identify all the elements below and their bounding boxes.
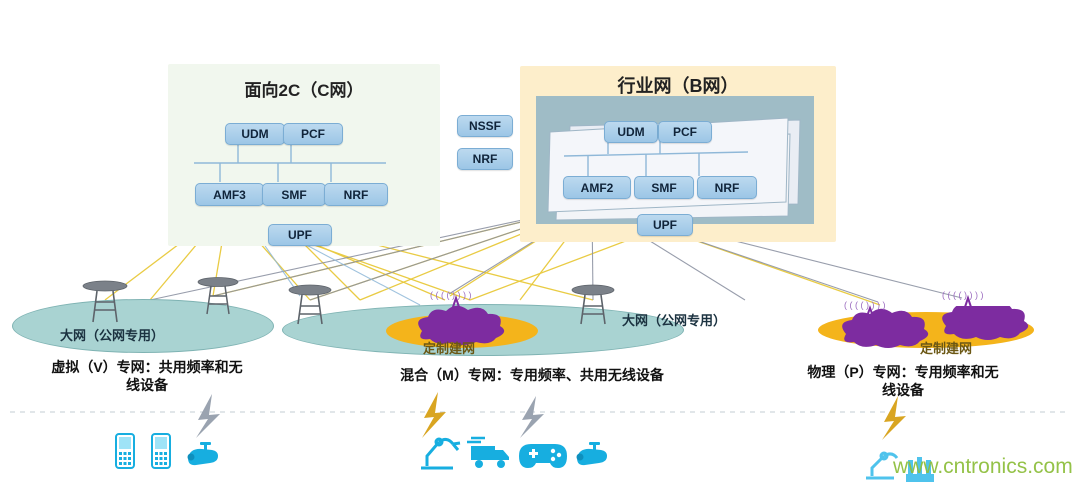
nf-upf-b[interactable]: UPF — [637, 214, 693, 236]
nf-nssf-shared[interactable]: NSSF — [457, 115, 513, 137]
device-group-consumer — [110, 432, 230, 480]
svg-text:( ( ( ( ) ) ) ): ( ( ( ( ) ) ) ) — [430, 290, 471, 300]
delivery-truck-icon — [467, 438, 509, 468]
caption-virtual-line1: 虚拟（V）专网：共用频率和无 — [12, 358, 282, 376]
network-label-public-left: 大网（公网专用） — [60, 325, 164, 344]
panel-c-title: 面向2C（C网） — [168, 76, 440, 101]
caption-hybrid: 混合（M）专网：专用频率、共用无线设备 — [330, 366, 734, 384]
nf-udm-c[interactable]: UDM — [225, 123, 285, 145]
panel-b-title: 行业网（B网） — [520, 72, 836, 98]
nf-udm-b[interactable]: UDM — [604, 121, 658, 143]
nf-nrf-b[interactable]: NRF — [697, 176, 757, 199]
nf-smf-c[interactable]: SMF — [262, 183, 326, 206]
nf-nrf-c[interactable]: NRF — [324, 183, 388, 206]
robot-arm-icon — [421, 439, 460, 468]
network-label-custom-right: 定制建网 — [920, 338, 972, 357]
gamepad-icon — [519, 444, 567, 468]
network-label-public-middle: 大网（公网专用） — [622, 310, 726, 329]
mobile-phone-icon — [152, 434, 170, 468]
device-group-hybrid-industry — [415, 430, 625, 480]
nf-pcf-c[interactable]: PCF — [283, 123, 343, 145]
mobile-phone-icon — [116, 434, 134, 468]
caption-virtual: 虚拟（V）专网：共用频率和无 线设备 — [12, 358, 282, 394]
svg-text:( ( ( ( ) ) ) ): ( ( ( ( ) ) ) ) — [844, 300, 885, 310]
network-slice-sheets — [536, 96, 826, 226]
cctv-camera-icon — [188, 442, 219, 465]
nf-amf3[interactable]: AMF3 — [195, 183, 264, 206]
diagram-canvas: 面向2C（C网） UDM PCF AMF3 SMF NRF UPF NSSF N… — [0, 0, 1080, 489]
nf-nrf-shared[interactable]: NRF — [457, 148, 513, 170]
caption-physical-line1: 物理（P）专网：专用频率和无 — [778, 363, 1028, 381]
nf-amf2[interactable]: AMF2 — [563, 176, 631, 199]
caption-hybrid-line1: 混合（M）专网：专用频率、共用无线设备 — [330, 366, 734, 384]
nf-smf-b[interactable]: SMF — [634, 176, 694, 199]
nf-pcf-b[interactable]: PCF — [658, 121, 712, 143]
network-label-custom-middle: 定制建网 — [423, 338, 475, 357]
svg-text:( ( ( ( ) ) ) ): ( ( ( ( ) ) ) ) — [942, 290, 983, 300]
watermark: www.cntronics.com — [893, 455, 1073, 479]
nf-upf-c[interactable]: UPF — [268, 224, 332, 246]
cctv-camera-icon — [577, 442, 608, 465]
